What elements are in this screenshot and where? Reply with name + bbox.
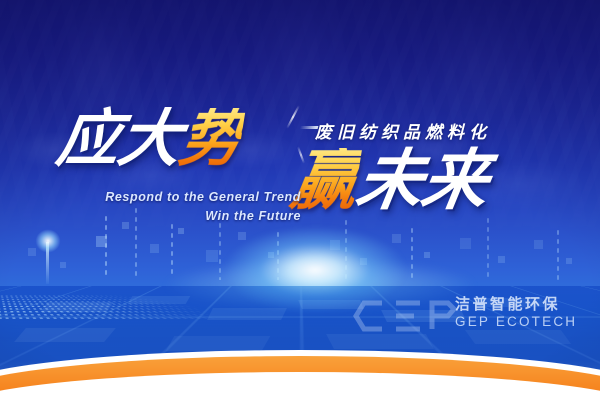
headline-char-ying: 应: [53, 108, 124, 170]
headline-char-lai: 来: [417, 148, 492, 214]
headline-line-1: 应大势: [58, 108, 241, 170]
headline-char-da: 大: [114, 108, 185, 170]
headline-group: 废旧纺织品燃料化 应大势 赢未来 Respond to the General …: [0, 0, 600, 400]
brand-logo: 洁普智能环保 GEP ECOTECH: [455, 296, 577, 331]
english-subtitle: Respond to the General Trend Win the Fut…: [76, 188, 301, 227]
brand-name-en: GEP ECOTECH: [455, 313, 577, 331]
kicker-text: 废旧纺织品燃料化: [315, 118, 491, 143]
headline-line-2: 赢未来: [292, 148, 487, 214]
promotional-banner: 废旧纺织品燃料化 应大势 赢未来 Respond to the General …: [0, 0, 600, 400]
sparkle-decor: [286, 105, 300, 129]
brand-name-cn: 洁普智能环保: [455, 296, 577, 313]
subtitle-line-2: Win the Future: [76, 207, 301, 226]
headline-char-shi: 势: [175, 108, 246, 170]
subtitle-line-1: Respond to the General Trend: [76, 188, 301, 207]
headline-char-wei: 未: [352, 148, 427, 214]
